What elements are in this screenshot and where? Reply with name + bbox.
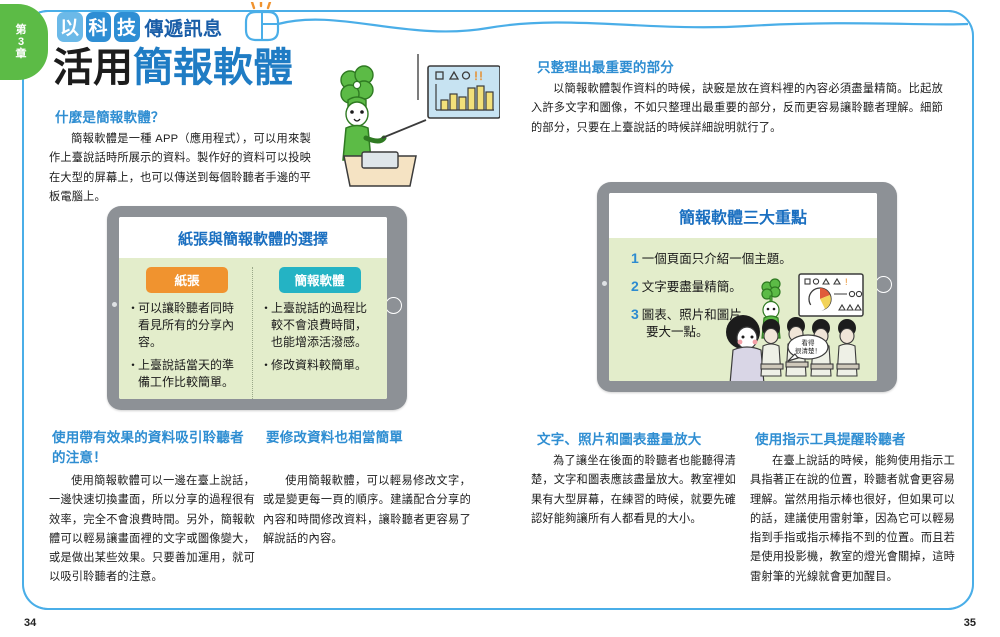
left-slide-column-paper: 紙張 可以讓聆聽者同時看見所有的分享內容。 上臺說話當天的準備工作比較簡單。: [129, 267, 253, 399]
tablet-paper-vs-software: 紙張與簡報軟體的選擇 紙張 可以讓聆聽者同時看見所有的分享內容。 上臺說話當天的…: [107, 206, 407, 410]
chapter-tab-char-1: 第: [16, 24, 27, 36]
presenter-character-illustration: [300, 48, 500, 208]
key-point-1: 1一個頁面只介紹一個主題。: [631, 249, 877, 268]
chapter-tab-char-3: 章: [16, 48, 27, 60]
left-section1-body: 簡報軟體是一種 APP（應用程式），可以用來製作上臺說話時所展示的資料。製作好的…: [49, 130, 311, 207]
tablet-camera-right: [602, 281, 607, 286]
key-point-number: 3: [631, 306, 639, 322]
tablet-three-key-points: 簡報軟體三大重點 1一個頁面只介紹一個主題。 2文字要盡量精簡。 3圖表、照片和…: [597, 182, 897, 392]
list-item: 上臺說話當天的準備工作比較簡單。: [129, 357, 245, 391]
page-title-part-2: 簡報軟體: [133, 46, 293, 90]
right-section1-body: 以簡報軟體製作資料的時候，訣竅是放在資料裡的內容必須盡量精簡。比起放入許多文字和…: [531, 80, 943, 138]
tablet-home-button-left[interactable]: [385, 297, 402, 314]
left-slide-column-software: 簡報軟體 上臺說話的過程比較不會浪費時間，也能增添活潑感。 修改資料較簡單。: [253, 267, 377, 399]
tablet-home-button-right[interactable]: [875, 276, 892, 293]
kicker-heading: 以 科 技 傳遞訊息: [57, 12, 223, 42]
kicker-plain-text: 傳遞訊息: [145, 14, 223, 41]
chapter-tab-char-2: 3: [18, 36, 24, 48]
left-section3-body: 使用簡報軟體，可以輕易修改文字，或是變更每一頁的順序。建議配合分享的內容和時間修…: [263, 472, 471, 549]
key-point-number: 1: [631, 250, 639, 266]
page-number-right: 35: [964, 617, 976, 629]
list-item: 可以讓聆聽者同時看見所有的分享內容。: [129, 300, 245, 351]
kicker-badge-1: 以: [57, 12, 83, 42]
left-section3-heading: 要修改資料也相當簡單: [266, 428, 481, 448]
key-point-text: 一個頁面只介紹一個主題。: [642, 252, 792, 266]
pill-software: 簡報軟體: [279, 267, 361, 293]
right-section2-heading: 文字、照片和圖表盡量放大: [537, 430, 747, 450]
right-slide-title: 簡報軟體三大重點: [609, 193, 877, 238]
left-slide-body: 紙張 可以讓聆聽者同時看見所有的分享內容。 上臺說話當天的準備工作比較簡單。 簡…: [119, 258, 387, 399]
mouse-icon: [228, 2, 968, 48]
left-slide-title: 紙張與簡報軟體的選擇: [119, 217, 387, 258]
page-title: 活用簡報軟體: [53, 48, 293, 88]
bullets-software: 上臺說話的過程比較不會浪費時間，也能增添活潑感。 修改資料較簡單。: [262, 300, 377, 374]
key-point-number: 2: [631, 278, 639, 294]
svg-text:很清楚！: 很清楚！: [795, 346, 821, 355]
right-slide-body: 1一個頁面只介紹一個主題。 2文字要盡量精簡。 3圖表、照片和圖片 要大一點。: [609, 238, 877, 381]
svg-text:!: !: [845, 277, 848, 287]
page-title-part-1: 活用: [53, 46, 133, 90]
svg-text:看得: 看得: [802, 338, 816, 347]
page-number-left: 34: [24, 617, 36, 629]
left-section1-heading: 什麼是簡報軟體？: [55, 108, 305, 128]
right-section3-body: 在臺上說話的時候，能夠使用指示工具指著正在說的位置，聆聽者就會更容易理解。當然用…: [750, 452, 955, 587]
classroom-audience-illustration: !: [721, 272, 873, 381]
kicker-badge-2: 科: [86, 12, 112, 42]
left-section2-body: 使用簡報軟體可以一邊在臺上說話，一邊快速切換畫面，所以分享的過程很有效率，完全不…: [49, 472, 255, 588]
list-item: 上臺說話的過程比較不會浪費時間，也能增添活潑感。: [262, 300, 377, 351]
book-spread: 第 3 章 以 科 技 傳遞訊息 活用簡報軟體 什麼是簡報軟體？ 簡報軟體是一種…: [0, 0, 1000, 637]
tablet-screen-right: 簡報軟體三大重點 1一個頁面只介紹一個主題。 2文字要盡量精簡。 3圖表、照片和…: [609, 193, 877, 381]
bullets-paper: 可以讓聆聽者同時看見所有的分享內容。 上臺說話當天的準備工作比較簡單。: [129, 300, 245, 391]
tablet-camera-left: [112, 302, 117, 307]
right-section2-body: 為了讓坐在後面的聆聽者也能聽得清楚，文字和圖表應該盡量放大。教室裡如果有大型屏幕…: [531, 452, 736, 529]
tablet-screen-left: 紙張與簡報軟體的選擇 紙張 可以讓聆聽者同時看見所有的分享內容。 上臺說話當天的…: [119, 217, 387, 399]
right-section3-heading: 使用指示工具提醒聆聽者: [755, 430, 965, 450]
left-section2-heading: 使用帶有效果的資料吸引聆聽者的注意！: [52, 428, 257, 467]
list-item: 修改資料較簡單。: [262, 357, 377, 374]
right-section1-heading: 只整理出最重要的部分: [537, 58, 837, 78]
kicker-badge-3: 技: [114, 12, 140, 42]
pill-paper: 紙張: [146, 267, 228, 293]
chapter-tab: 第 3 章: [0, 4, 48, 80]
